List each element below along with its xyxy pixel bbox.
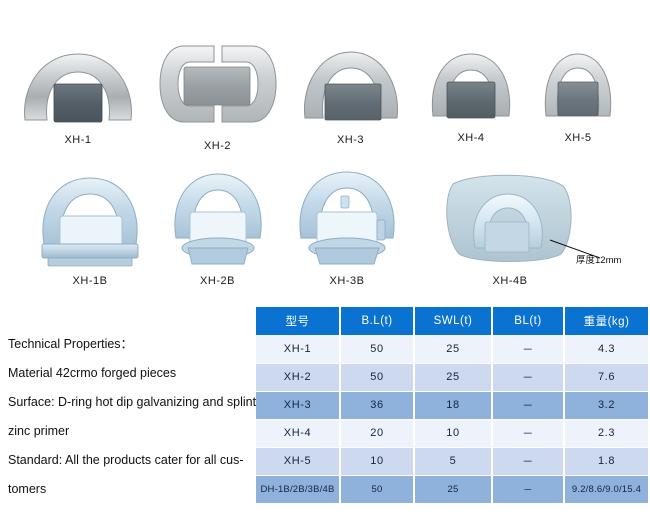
product-card-xh-5: XH-5 [528,48,628,144]
product-card-xh-1b: XH-1B [25,168,155,287]
technical-properties: Technical Properties： Material 42crmo fo… [8,330,256,504]
table-row: DH-1B/2B/3B/4B 50 25 － 9.2/8.6/9.0/15.4 [256,475,648,503]
product-image-xh-4 [416,46,526,126]
cell-model: XH-3 [256,391,340,419]
column-header-bl: B.L(t) [340,307,414,335]
technical-line: Surface: D-ring hot dip galvanizing and … [8,388,256,417]
column-header-swl: SWL(t) [414,307,492,335]
product-label-xh-3b: XH-3B [282,275,412,287]
specification-table: 型号 B.L(t) SWL(t) BL(t) 重量(kg) XH-1 50 25… [256,307,648,504]
product-label-xh-1b: XH-1B [25,275,155,287]
product-label-xh-4b: XH-4B [430,275,590,287]
cell-weight: 1.8 [564,447,648,475]
product-label-xh-1: XH-1 [8,134,148,146]
cell-swl: 5 [414,447,492,475]
table-row: XH-3 36 18 － 3.2 [256,391,648,419]
technical-line: Material 42crmo forged pieces [8,359,256,388]
d-ring-baseplate-icon [30,168,150,270]
table-row: XH-4 20 10 － 2.3 [256,419,648,447]
thickness-annotation: 厚度12mm [576,252,621,266]
d-ring-round-base-bolt-icon [287,164,407,270]
table-header: 型号 B.L(t) SWL(t) BL(t) 重量(kg) [256,307,648,335]
product-catalog-page: XH-1 [0,0,650,523]
cell-bl2: － [492,447,564,475]
d-ring-icon [295,44,407,128]
cell-bl2: － [492,475,564,503]
column-header-bl2: BL(t) [492,307,564,335]
technical-line: tomers [8,475,256,504]
table-header-row: 型号 B.L(t) SWL(t) BL(t) 重量(kg) [256,307,648,335]
product-card-xh-2: XH-2 [150,34,285,152]
product-image-xh-3 [288,44,413,128]
column-header-model: 型号 [256,307,340,335]
table-row: XH-2 50 25 － 7.6 [256,363,648,391]
product-label-xh-2: XH-2 [150,140,285,152]
cell-weight: 7.6 [564,363,648,391]
product-label-xh-3: XH-3 [288,134,413,146]
cell-swl: 25 [414,475,492,503]
double-d-ring-icon [158,34,278,134]
product-image-xh-3b [282,164,412,270]
product-card-xh-3b: XH-3B [282,164,412,287]
cell-bl: 50 [340,475,414,503]
cell-weight: 3.2 [564,391,648,419]
cell-model: DH-1B/2B/3B/4B [256,475,340,503]
cell-bl: 20 [340,419,414,447]
table-body: XH-1 50 25 － 4.3 XH-2 50 25 － 7.6 XH-3 3… [256,335,648,503]
d-ring-icon [421,46,521,126]
technical-line: Technical Properties： [8,330,256,359]
product-card-xh-1: XH-1 [8,40,148,146]
cell-model: XH-1 [256,335,340,363]
cell-weight: 9.2/8.6/9.0/15.4 [564,475,648,503]
technical-line: Standard: All the products cater for all… [8,446,256,475]
product-image-xh-2b [155,166,280,270]
cell-bl2: － [492,363,564,391]
cell-swl: 25 [414,335,492,363]
cell-bl2: － [492,419,564,447]
product-card-xh-4: XH-4 [416,46,526,144]
product-label-xh-4: XH-4 [416,132,526,144]
product-label-xh-5: XH-5 [528,132,628,144]
cell-model: XH-2 [256,363,340,391]
product-image-xh-1b [25,168,155,270]
product-card-xh-4b: XH-4B [430,170,590,287]
product-label-xh-2b: XH-2B [155,275,280,287]
d-ring-icon [13,40,143,128]
table-row: XH-1 50 25 － 4.3 [256,335,648,363]
cell-bl: 50 [340,335,414,363]
table-row: XH-5 10 5 － 1.8 [256,447,648,475]
product-card-xh-3: XH-3 [288,44,413,146]
cell-model: XH-5 [256,447,340,475]
column-header-weight: 重量(kg) [564,307,648,335]
cell-weight: 2.3 [564,419,648,447]
product-card-xh-2b: XH-2B [155,166,280,287]
product-row-2: XH-1B XH- [0,168,650,288]
d-ring-round-base-icon [160,166,275,270]
cell-bl: 10 [340,447,414,475]
cell-bl: 36 [340,391,414,419]
product-image-xh-1 [8,40,148,128]
product-image-xh-2 [150,34,285,134]
cell-swl: 18 [414,391,492,419]
product-row-1: XH-1 [0,40,650,155]
d-ring-icon [534,48,622,126]
cell-bl2: － [492,335,564,363]
cell-model: XH-4 [256,419,340,447]
technical-line: zinc primer [8,417,256,446]
cell-swl: 25 [414,363,492,391]
cell-weight: 4.3 [564,335,648,363]
product-image-xh-5 [528,48,628,126]
cell-bl2: － [492,391,564,419]
cell-bl: 50 [340,363,414,391]
cell-swl: 10 [414,419,492,447]
